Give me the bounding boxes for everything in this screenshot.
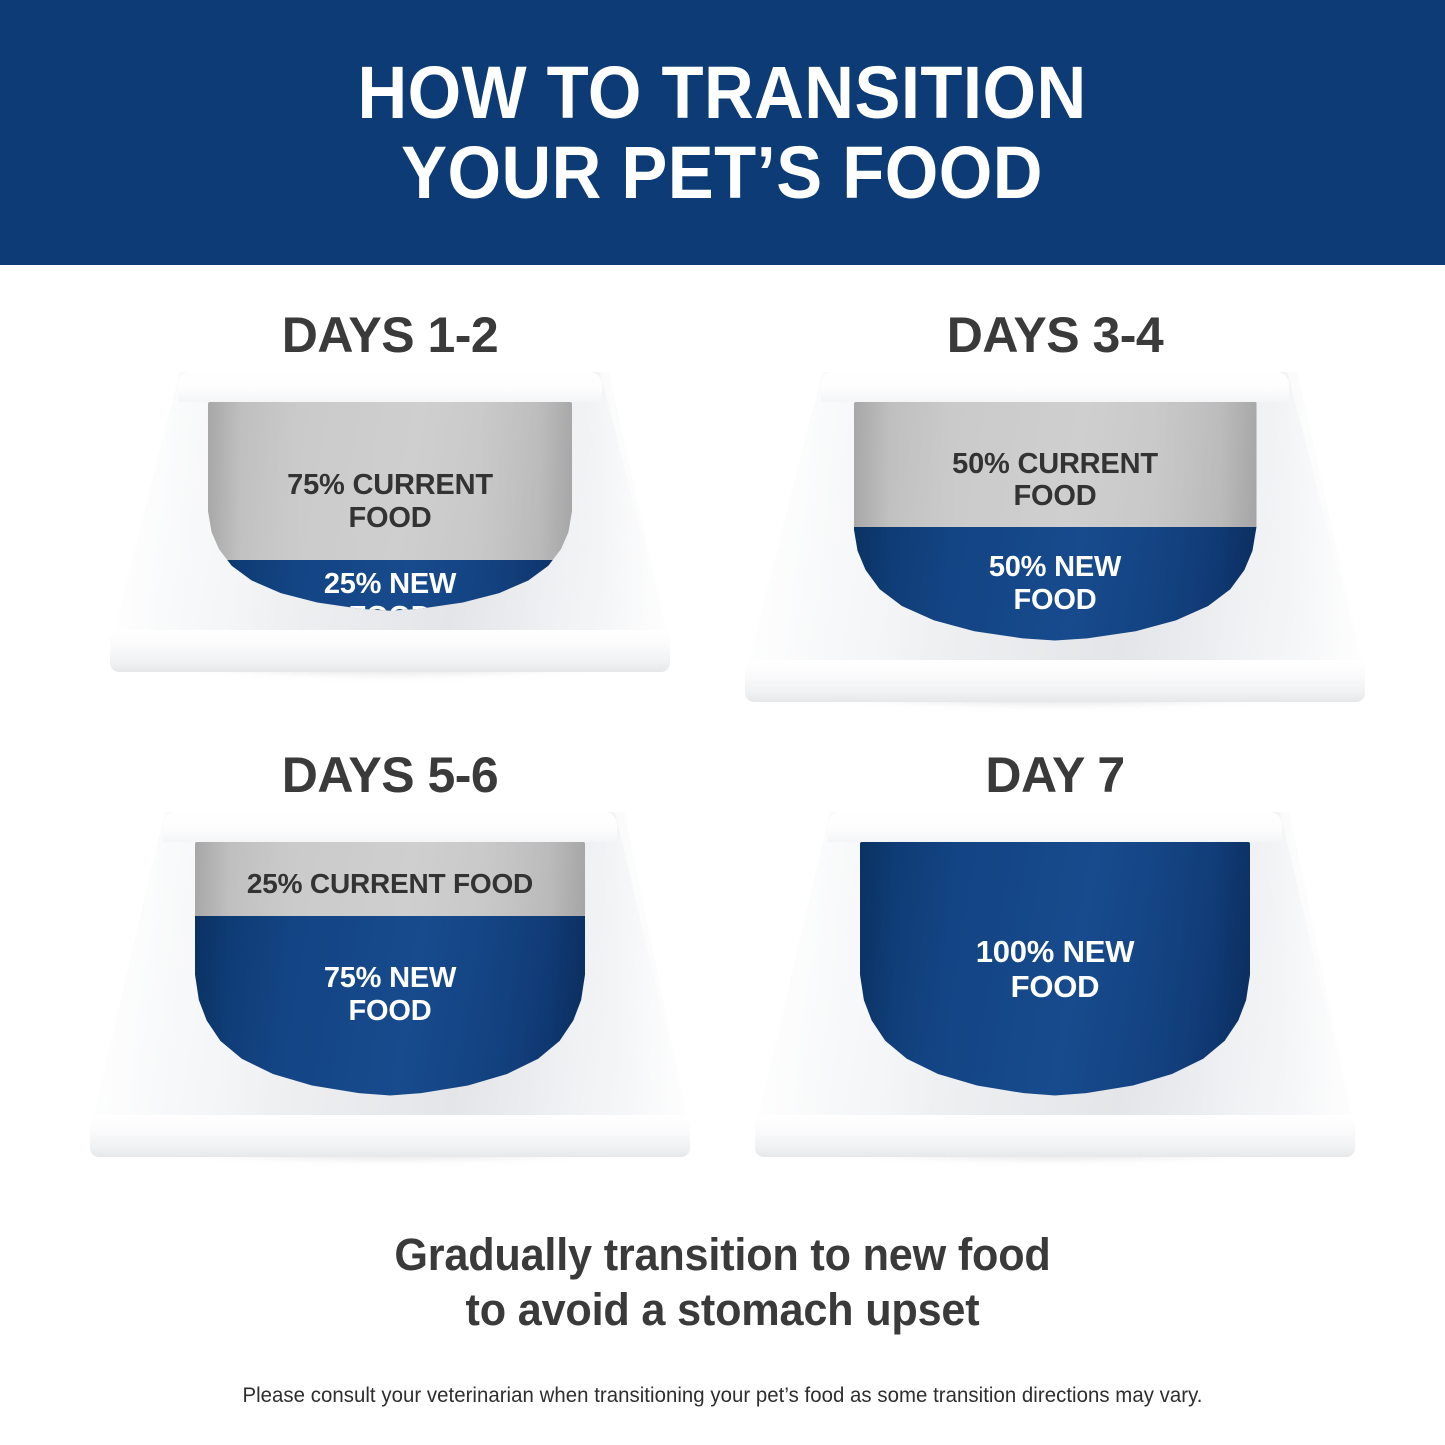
page-title-line-1: HOW TO TRANSITION (358, 53, 1087, 132)
current-food-label: 25% CURRENT FOOD (211, 868, 570, 900)
footer: Gradually transition to new food to avoi… (0, 1228, 1445, 1408)
infographic-page: HOW TO TRANSITION YOUR PET’S FOOD DAYS 1… (0, 0, 1445, 1445)
page-title-line-2: YOUR PET’S FOOD (402, 133, 1044, 212)
new-food-label: 50% NEW FOOD (870, 551, 1241, 617)
bowl-base (745, 660, 1365, 702)
current-food-label: 75% CURRENT FOOD (223, 469, 558, 535)
bowl-rim (828, 812, 1282, 842)
bowl-rim (821, 372, 1290, 402)
stage-panel-days-3-4: DAYS 3-4 50% CURRENT FOOD 50% NEW FOOD (720, 310, 1390, 745)
stage-title: DAYS 5-6 (55, 750, 725, 812)
bowl-base (755, 1115, 1355, 1157)
food-bowl: 100% NEW FOOD (755, 812, 1355, 1157)
stage-panel-day-7: DAY 7 100% NEW FOOD (720, 750, 1390, 1220)
footer-headline-line-1: Gradually transition to new food (29, 1228, 1416, 1283)
stage-panel-days-5-6: DAYS 5-6 25% CURRENT FOOD 75% NEW FOOD (55, 750, 725, 1220)
food-bowl: 50% CURRENT FOOD 50% NEW FOOD (745, 372, 1365, 702)
stage-title: DAYS 3-4 (720, 310, 1390, 372)
bowl-base (110, 630, 670, 672)
bowl-cavity: 100% NEW FOOD (860, 842, 1250, 1097)
bowl-cavity: 25% CURRENT FOOD 75% NEW FOOD (195, 842, 585, 1097)
footer-disclaimer: Please consult your veterinarian when tr… (22, 1384, 1424, 1408)
stage-title: DAY 7 (720, 750, 1390, 812)
bowl-cavity: 75% CURRENT FOOD 25% NEW FOOD (208, 402, 572, 612)
bowl-base (90, 1115, 690, 1157)
bowl-rim (178, 372, 601, 402)
new-food-label: 100% NEW FOOD (876, 934, 1235, 1004)
food-bowl: 75% CURRENT FOOD 25% NEW FOOD (110, 372, 670, 672)
new-food-label: 75% NEW FOOD (211, 962, 570, 1028)
stage-panel-days-1-2: DAYS 1-2 75% CURRENT FOOD 25% NEW FOOD (55, 310, 725, 745)
header-banner: HOW TO TRANSITION YOUR PET’S FOOD (0, 0, 1445, 265)
stage-grid: DAYS 1-2 75% CURRENT FOOD 25% NEW FOOD (0, 265, 1445, 1220)
footer-headline-line-2: to avoid a stomach upset (29, 1283, 1416, 1338)
bowl-rim (163, 812, 617, 842)
stage-title: DAYS 1-2 (55, 310, 725, 372)
food-bowl: 25% CURRENT FOOD 75% NEW FOOD (90, 812, 690, 1157)
bowl-cavity: 50% CURRENT FOOD 50% NEW FOOD (854, 402, 1257, 642)
current-food-label: 50% CURRENT FOOD (870, 448, 1241, 514)
